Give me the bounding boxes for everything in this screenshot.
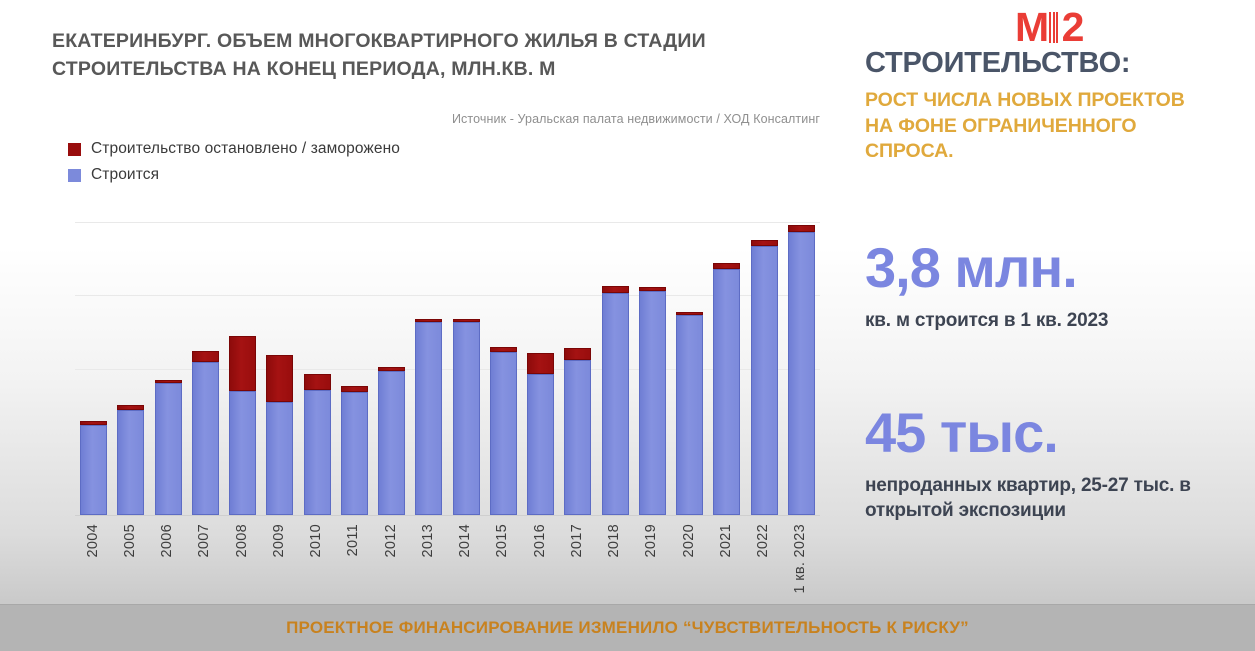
- slide-root: ЕКАТЕРИНБУРГ. ОБЪЕМ МНОГОКВАРТИРНОГО ЖИЛ…: [0, 0, 1255, 651]
- bar-2004[interactable]: [80, 421, 107, 515]
- bar-segment-building: [378, 371, 405, 515]
- bar-segment-stopped: [117, 405, 144, 409]
- gridline-3: [75, 295, 820, 296]
- bar-segment-building: [713, 269, 740, 515]
- bar-2020[interactable]: [676, 312, 703, 515]
- bar-segment-stopped: [602, 286, 629, 293]
- bar-2018[interactable]: [602, 286, 629, 515]
- stat-value-unsold: 45 тыс.: [865, 405, 1255, 461]
- logo-digit-2: 2: [1062, 8, 1084, 46]
- bar-segment-stopped: [713, 263, 740, 269]
- bar-2016[interactable]: [527, 353, 554, 515]
- bar-segment-stopped: [490, 347, 517, 352]
- bar-segment-stopped: [527, 353, 554, 374]
- bar-segment-stopped: [751, 240, 778, 247]
- bar-2012[interactable]: [378, 367, 405, 515]
- legend-label-building: Строится: [91, 166, 159, 184]
- x-tick-label-2007: 2007: [196, 524, 212, 557]
- x-tick-label-2005: 2005: [122, 524, 138, 557]
- x-tick-label-2021: 2021: [718, 524, 734, 557]
- stat-value-volume: 3,8 млн.: [865, 240, 1255, 296]
- x-tick-label-2016: 2016: [532, 524, 548, 557]
- bar-2008[interactable]: [229, 336, 256, 515]
- bar-segment-stopped: [788, 225, 815, 232]
- x-tick-label-2013: 2013: [420, 524, 436, 557]
- gridline-1: [75, 442, 820, 443]
- legend-swatch-red: [68, 143, 81, 156]
- bar-segment-building: [676, 315, 703, 515]
- x-tick-label-1-кв--2023: 1 кв. 2023: [792, 524, 808, 593]
- legend-label-stopped: Строительство остановлено / заморожено: [91, 140, 400, 158]
- bar-segment-building: [155, 383, 182, 515]
- footer-text: ПРОЕКТНОЕ ФИНАНСИРОВАНИЕ ИЗМЕНИЛО “ЧУВСТ…: [286, 618, 969, 638]
- bar-2007[interactable]: [192, 351, 219, 515]
- x-tick-label-2014: 2014: [457, 524, 473, 557]
- bar-segment-building: [80, 425, 107, 515]
- x-tick-label-2010: 2010: [308, 524, 324, 557]
- chart-title: ЕКАТЕРИНБУРГ. ОБЪЕМ МНОГОКВАРТИРНОГО ЖИЛ…: [52, 28, 812, 83]
- stat-caption-unsold: непроданных квартир, 25-27 тыс. в открыт…: [865, 473, 1255, 523]
- bar-segment-building: [341, 392, 368, 515]
- bar-segment-building: [490, 352, 517, 515]
- info-headline: СТРОИТЕЛЬСТВО:: [865, 48, 1245, 78]
- footer-banner: ПРОЕКТНОЕ ФИНАНСИРОВАНИЕ ИЗМЕНИЛО “ЧУВСТ…: [0, 604, 1255, 651]
- chart-source: Источник - Уральская палата недвижимости…: [452, 112, 820, 126]
- bar-segment-stopped: [415, 319, 442, 322]
- bar-segment-stopped: [192, 351, 219, 362]
- logo-letter-m: M: [1015, 8, 1048, 46]
- bar-segment-stopped: [378, 367, 405, 371]
- bar-segment-building: [192, 362, 219, 515]
- bar-2019[interactable]: [639, 287, 666, 515]
- bar-segment-stopped: [155, 380, 182, 383]
- bar-2010[interactable]: [304, 374, 331, 515]
- bar-segment-building: [564, 360, 591, 515]
- bar-2011[interactable]: [341, 386, 368, 515]
- x-tick-label-2006: 2006: [159, 524, 175, 557]
- x-tick-label-2012: 2012: [383, 524, 399, 557]
- bar-segment-stopped: [229, 336, 256, 391]
- bar-segment-building: [117, 410, 144, 515]
- logo-bars-icon: [1049, 12, 1060, 43]
- bar-2014[interactable]: [453, 319, 480, 515]
- x-tick-label-2018: 2018: [606, 524, 622, 557]
- bar-segment-stopped: [266, 355, 293, 402]
- bar-segment-building: [266, 402, 293, 515]
- bar-2021[interactable]: [713, 263, 740, 515]
- x-axis-line: [75, 515, 820, 516]
- bar-segment-stopped: [564, 348, 591, 360]
- bar-segment-building: [304, 390, 331, 515]
- bar-2006[interactable]: [155, 380, 182, 515]
- bar-2013[interactable]: [415, 319, 442, 515]
- bar-segment-building: [602, 293, 629, 515]
- stat-block-volume: 3,8 млн. кв. м строится в 1 кв. 2023: [865, 240, 1255, 333]
- bar-segment-stopped: [304, 374, 331, 390]
- bar-2022[interactable]: [751, 240, 778, 515]
- bar-segment-building: [751, 246, 778, 515]
- bar-segment-building: [527, 374, 554, 515]
- bar-segment-stopped: [639, 287, 666, 291]
- bar-segment-stopped: [341, 386, 368, 392]
- bar-segment-building: [453, 322, 480, 515]
- bar-2017[interactable]: [564, 348, 591, 515]
- info-subheadline: РОСТ ЧИСЛА НОВЫХ ПРОЕКТОВ НА ФОНЕ ОГРАНИ…: [865, 88, 1195, 165]
- x-tick-label-2019: 2019: [643, 524, 659, 557]
- plot-area: 2004200520062007200820092010201120122013…: [75, 222, 820, 515]
- bar-segment-building: [229, 391, 256, 515]
- bar-segment-stopped: [80, 421, 107, 425]
- legend-swatch-blue: [68, 169, 81, 182]
- x-tick-label-2022: 2022: [755, 524, 771, 557]
- stat-caption-volume: кв. м строится в 1 кв. 2023: [865, 308, 1255, 333]
- bar-segment-building: [415, 322, 442, 515]
- x-tick-label-2009: 2009: [271, 524, 287, 557]
- bar-segment-building: [788, 232, 815, 515]
- x-tick-label-2008: 2008: [234, 524, 250, 557]
- x-tick-label-2004: 2004: [85, 524, 101, 557]
- stat-block-unsold: 45 тыс. непроданных квартир, 25-27 тыс. …: [865, 405, 1255, 523]
- bar-2005[interactable]: [117, 405, 144, 515]
- gridline-4: [75, 222, 820, 223]
- bar-2015[interactable]: [490, 347, 517, 515]
- bar-1-кв--2023[interactable]: [788, 225, 815, 515]
- bar-segment-building: [639, 291, 666, 515]
- x-tick-label-2017: 2017: [569, 524, 585, 557]
- x-tick-label-2011: 2011: [345, 524, 361, 556]
- gridline-2: [75, 369, 820, 370]
- legend-item-building[interactable]: Строится: [68, 166, 400, 184]
- bar-segment-stopped: [676, 312, 703, 315]
- info-panel: M 2 СТРОИТЕЛЬСТВО: РОСТ ЧИСЛА НОВЫХ ПРОЕ…: [855, 0, 1255, 605]
- chart-legend: Строительство остановлено / заморожено С…: [68, 140, 400, 192]
- chart-panel: ЕКАТЕРИНБУРГ. ОБЪЕМ МНОГОКВАРТИРНОГО ЖИЛ…: [0, 0, 845, 605]
- legend-item-stopped[interactable]: Строительство остановлено / заморожено: [68, 140, 400, 158]
- bar-2009[interactable]: [266, 355, 293, 515]
- bar-segment-stopped: [453, 319, 480, 322]
- x-tick-label-2020: 2020: [681, 524, 697, 557]
- m2-logo[interactable]: M 2: [1015, 4, 1083, 46]
- x-tick-label-2015: 2015: [494, 524, 510, 557]
